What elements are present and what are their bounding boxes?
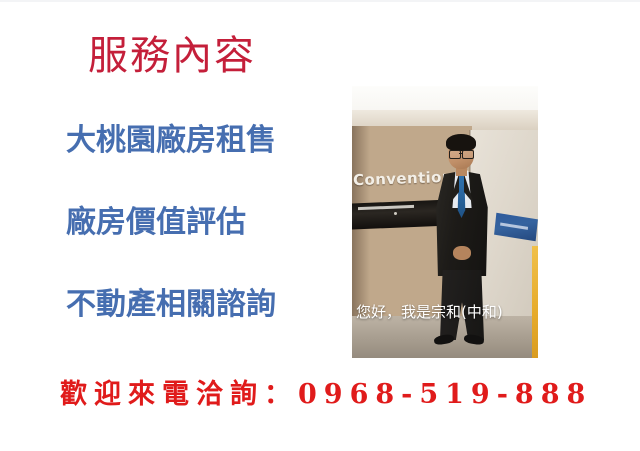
- contact-phone-line: 歡迎來電洽詢：0968-519-888: [60, 372, 580, 411]
- agent-portrait-photo: Convention Ce 您好，我是宗和(中和): [352, 86, 538, 358]
- service-item-1: 大桃園廠房租售: [66, 126, 346, 156]
- page-title: 服務內容: [88, 34, 256, 78]
- person-glasses-left-lens: [449, 150, 461, 159]
- service-item-3: 不動產相關諮詢: [66, 290, 346, 320]
- photo-band-dot: [394, 212, 397, 215]
- photo-plaque-text-line: [500, 223, 528, 230]
- person-hands: [453, 246, 471, 260]
- service-item-2: 廠房價值評估: [66, 208, 346, 238]
- slide-top-divider: [0, 0, 640, 2]
- person-hair: [446, 134, 476, 151]
- person-glasses-bridge: [459, 153, 462, 154]
- service-list: 大桃園廠房租售 廠房價值評估 不動產相關諮詢: [66, 126, 346, 320]
- person-glasses-right-lens: [462, 150, 474, 159]
- presentation-slide: 服務內容 大桃園廠房租售 廠房價值評估 不動產相關諮詢 Convention C…: [0, 0, 640, 451]
- photo-caption: 您好，我是宗和(中和): [356, 301, 538, 322]
